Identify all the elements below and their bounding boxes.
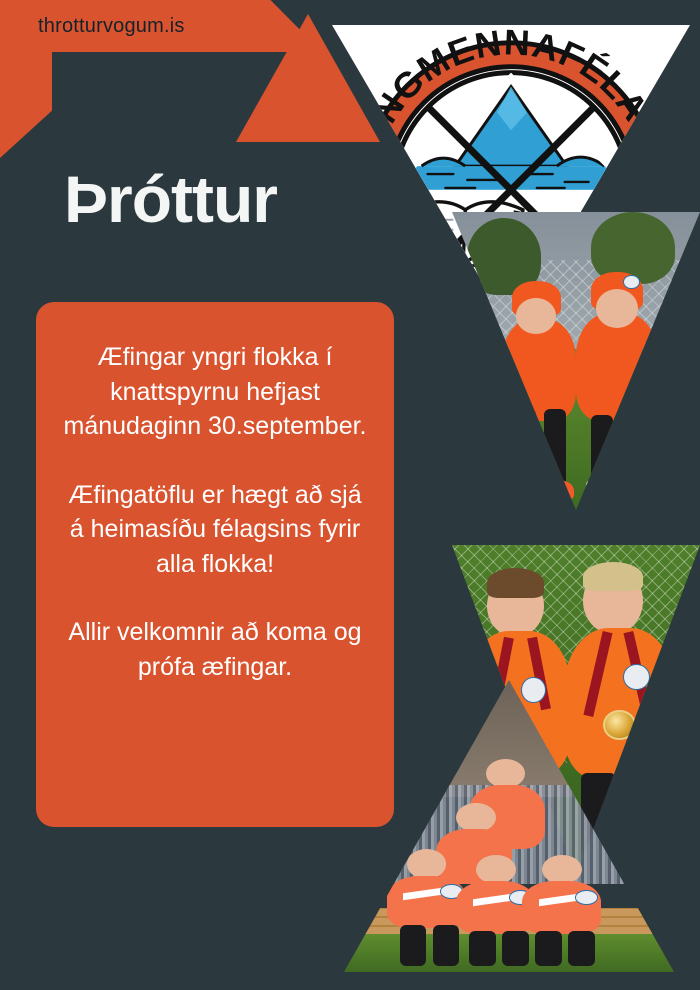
announcement-paragraph-2: Æfingatöflu er hægt að sjá á heimasíðu f… (58, 478, 372, 582)
page-title: Þróttur (64, 166, 277, 232)
announcement-paragraph-1: Æfingar yngri flokka í knattspyrnu hefja… (58, 340, 372, 444)
website-url[interactable]: throtturvogum.is (38, 15, 185, 38)
photo-two-kids-orange-jackets (452, 212, 700, 510)
poster-canvas: UNGMENNAFÉLAG (0, 0, 700, 990)
announcement-card: Æfingar yngri flokka í knattspyrnu hefja… (36, 302, 394, 827)
footer-band: throtturvogum.is (0, 0, 322, 52)
announcement-paragraph-3: Allir velkomnir að koma og prófa æfingar… (58, 615, 372, 684)
